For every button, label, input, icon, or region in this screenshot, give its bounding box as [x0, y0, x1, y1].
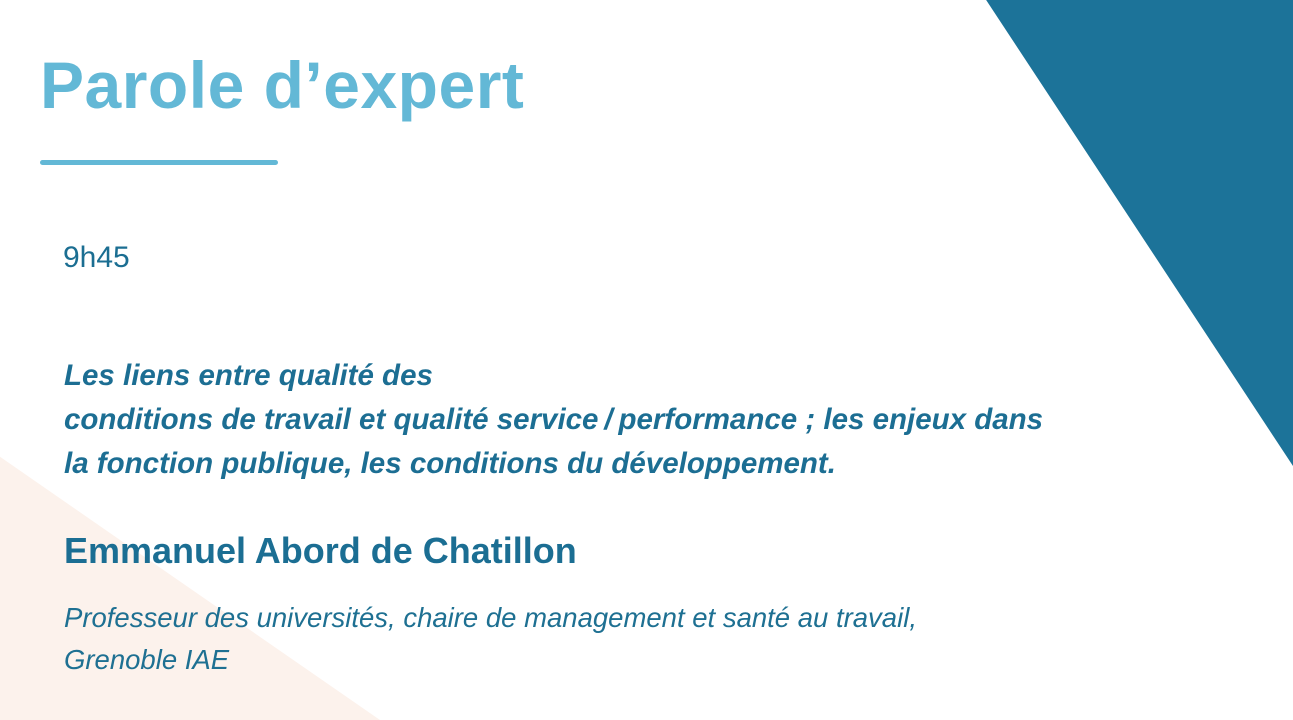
session-description-line: Les liens entre qualité des — [64, 354, 1043, 398]
speaker-role-line: Professeur des universités, chaire de ma… — [64, 597, 917, 639]
speaker-role: Professeur des universités, chaire de ma… — [64, 597, 917, 681]
title-underline-rule — [40, 160, 278, 165]
session-description-line: conditions de travail et qualité service… — [64, 398, 1043, 442]
session-description-line: la fonction publique, les conditions du … — [64, 442, 1043, 486]
speaker-name: Emmanuel Abord de Chatillon — [64, 531, 577, 571]
session-description: Les liens entre qualité des conditions d… — [64, 354, 1043, 486]
page-title: Parole d’expert — [40, 52, 524, 118]
speaker-role-line: Grenoble IAE — [64, 639, 917, 681]
session-time: 9h45 — [63, 241, 130, 274]
presentation-slide: Parole d’expert 9h45 Les liens entre qua… — [0, 0, 1293, 720]
